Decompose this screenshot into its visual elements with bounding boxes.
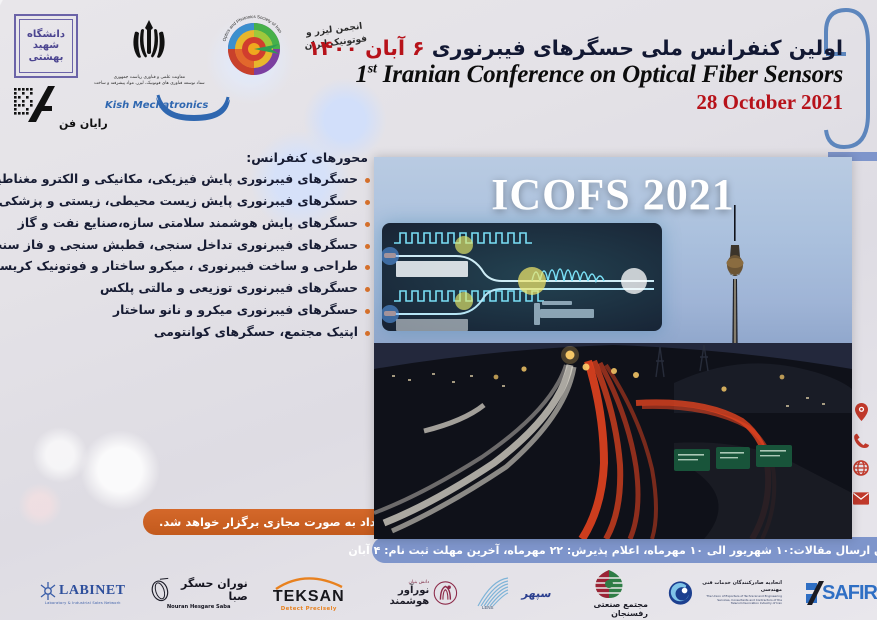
technical-engineering-services-union-logo: اتحادیه صادرکنندگان خدمات فنی مهندسی The… (668, 578, 782, 608)
bullet-icon (365, 222, 370, 227)
opsi-target-icon: Optics and Photonics Society of Iran (221, 14, 287, 80)
poster-headline: اولین کنفرانس ملی حسگرهای فیبرنوری ۶ آبا… (308, 36, 843, 115)
teksan-logo: TEKSAN Detect Precisely (272, 575, 346, 612)
union-label-fa: اتحادیه صادرکنندگان خدمات فنی مهندسی (697, 580, 782, 595)
rafsanjan-emblem-icon (591, 569, 627, 599)
lens-rays-icon: LENS (476, 576, 510, 610)
nooravar-hooshmand-logo: دانش بنیان نورآور هوشمند (368, 578, 458, 608)
conference-topics: محورهای کنفرانس: حسگرهای فیبرنوری پایش ف… (0, 150, 378, 347)
location-pin-icon (853, 403, 869, 421)
title-english-main: Iranian Conference on Optical Fiber Sens… (383, 61, 843, 88)
safir-label: SAFIR (822, 582, 877, 605)
title-farsi: اولین کنفرانس ملی حسگرهای فیبرنوری ۶ آبا… (308, 36, 843, 60)
optics-photonics-society-iran-logo: Optics and Photonics Society of Iran (221, 14, 287, 80)
rayan-fan-mark-icon (14, 86, 56, 130)
topic-label: طراحی و ساخت فیبرنوری ، میکرو ساختار و ف… (0, 259, 358, 274)
safir-logo: SAFIR (804, 580, 877, 606)
topic-label: حسگرهای فیبرنوری توزیعی و مالتی پلکس (100, 281, 358, 296)
kish-mechatronics-label: Kish Mechatronics (105, 100, 208, 111)
topic-item: حسگرهای پایش هوشمند سلامتی سازه،صنایع نف… (0, 216, 378, 231)
title-farsi-date: ۶ آبان ۱۴۰۰ (308, 36, 425, 60)
kish-mechatronics-logo: Kish Mechatronics (154, 91, 232, 125)
title-farsi-main: اولین کنفرانس ملی حسگرهای فیبرنوری (432, 36, 843, 60)
iran-vice-presidency-caption: معاونت علمی و فناوری ریاست جمهوری ستاد ت… (94, 75, 205, 87)
labinet-logo: LABINET Laboratory & Industrial Sales Ne… (40, 581, 126, 605)
labinet-label: LABINET (59, 583, 126, 599)
conference-date-english: 28 October 2021 (308, 90, 843, 115)
topic-label: حسگرهای فیبرنوری پایش فیزیکی، مکانیکی و … (0, 172, 358, 187)
bottom-sponsor-logos: LABINET Laboratory & Industrial Sales Ne… (0, 566, 877, 620)
conference-poster: دانشگاه شهید بهشتی معاونت علمی و فناوری … (0, 0, 877, 620)
topic-label: حسگرهای فیبرنوری پایش زیست محیطی، زیستی … (0, 194, 358, 209)
topic-label: حسگرهای فیبرنوری میکرو و نانو ساختار (113, 303, 358, 318)
center-photo-title: ICOFS 2021 (374, 169, 852, 220)
topic-item: حسگرهای فیبرنوری پایش زیست محیطی، زیستی … (0, 194, 378, 209)
bullet-icon (365, 244, 370, 249)
phone-icon (853, 431, 869, 449)
deadlines-bar: زمان ارسال مقالات:۱۰ شهریور الی ۱۰ مهرما… (372, 537, 877, 563)
topic-item: حسگرهای فیبرنوری توزیعی و مالتی پلکس (0, 281, 378, 296)
labinet-caption: Laboratory & Industrial Sales Network (45, 601, 121, 605)
union-spiral-icon (668, 578, 693, 608)
deadlines-label: زمان ارسال مقالات:۱۰ شهریور الی ۱۰ مهرما… (348, 544, 877, 557)
envelope-icon (853, 489, 869, 507)
sepehr-label: سپهر (521, 587, 552, 600)
topic-item: طراحی و ساخت فیبرنوری ، میکرو ساختار و ف… (0, 259, 378, 274)
bullet-icon (365, 309, 370, 314)
topic-label: اپتیک مجتمع، حسگرهای کوانتومی (154, 325, 358, 340)
sepehr-logo: سپهر (522, 587, 551, 600)
topic-item: اپتیک مجتمع، حسگرهای کوانتومی (0, 325, 378, 340)
title-english: 1st Iranian Conference on Optical Fiber … (308, 61, 843, 89)
nouran-label-fa: نوران حسگر صبا (173, 577, 247, 603)
center-photo: ICOFS 2021 (374, 157, 852, 539)
bullet-icon (365, 178, 370, 183)
nouran-caption: Nouran Hesgare Saba (167, 604, 231, 610)
labinet-mark-icon (40, 581, 56, 601)
topic-item: حسگرهای فیبرنوری پایش فیزیکی، مکانیکی و … (0, 172, 378, 187)
bullet-icon (365, 200, 370, 205)
lens-logo: LENS (476, 576, 510, 610)
optical-fiber-sensor-chip-graphic (382, 223, 662, 331)
topic-item: حسگرهای فیبرنوری میکرو و نانو ساختار (0, 303, 378, 318)
title-english-ordinal: 1 (355, 61, 367, 88)
title-english-ordinal-suffix: st (368, 62, 377, 77)
bullet-icon (365, 287, 370, 292)
lens-caption: LENS (482, 605, 494, 610)
topic-label: حسگرهای پایش هوشمند سلامتی سازه،صنایع نف… (18, 216, 358, 231)
nooravar-emblem-icon (433, 578, 458, 608)
nouran-coil-icon (150, 576, 170, 604)
rayan-fan-label: رایان فن (59, 117, 108, 130)
topics-heading: محورهای کنفرانس: (0, 150, 378, 165)
iran-emblem-icon (121, 18, 177, 72)
rafsanjan-label: مجتمع صنعتی رفسنجان (569, 600, 647, 618)
topic-label: حسگرهای فیبرنوری تداخل سنجی، قطبش سنجی و… (0, 238, 358, 253)
bullet-icon (365, 265, 370, 270)
shahid-beheshti-university-logo: دانشگاه شهید بهشتی (14, 14, 78, 78)
topic-item: حسگرهای فیبرنوری تداخل سنجی، قطبش سنجی و… (0, 238, 378, 253)
nouran-hesgare-saba-logo: نوران حسگر صبا Nouran Hesgare Saba (150, 576, 248, 610)
nooravar-label: نورآور هوشمند (368, 585, 429, 607)
globe-icon (853, 459, 869, 477)
highway-light-trails (374, 343, 852, 539)
rayan-fan-logo: رایان فن (14, 86, 108, 130)
bullet-icon (365, 331, 370, 336)
teksan-caption: Detect Precisely (281, 606, 337, 612)
teksan-label: TEKSAN (273, 588, 345, 606)
rafsanjan-industrial-complex-logo: مجتمع صنعتی رفسنجان (569, 569, 647, 618)
sbu-logo-label: دانشگاه شهید بهشتی (20, 29, 72, 64)
union-caption: The Union of Exporters of Technical and … (697, 595, 782, 607)
iran-vice-presidency-science-technology-logo: معاونت علمی و فناوری ریاست جمهوری ستاد ت… (94, 18, 205, 87)
